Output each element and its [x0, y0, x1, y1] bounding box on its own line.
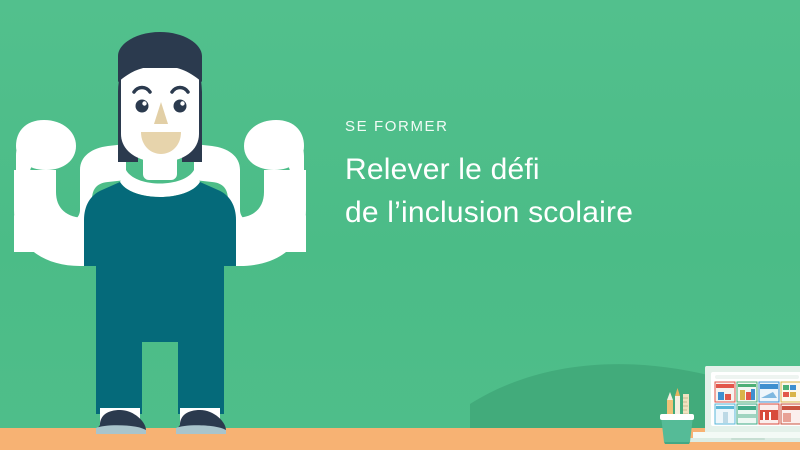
text-block: SE FORMER Relever le défi de l’inclusion…	[345, 118, 765, 234]
slide-canvas: SE FORMER Relever le défi de l’inclusion…	[0, 0, 800, 450]
kicker-label: SE FORMER	[345, 118, 765, 135]
eye-left	[136, 100, 149, 113]
eye-right	[174, 100, 187, 113]
headline-line-1: Relever le défi	[345, 149, 765, 192]
character-illustration	[0, 30, 320, 435]
desk-scene	[645, 358, 800, 450]
headline-line-2: de l’inclusion scolaire	[345, 192, 765, 235]
pencil-cup	[660, 388, 694, 444]
thumbnail-grid-row-2	[715, 404, 800, 424]
laptop	[689, 366, 800, 442]
page-title: Relever le défi de l’inclusion scolaire	[345, 149, 765, 234]
thumbnail-grid	[715, 382, 800, 402]
